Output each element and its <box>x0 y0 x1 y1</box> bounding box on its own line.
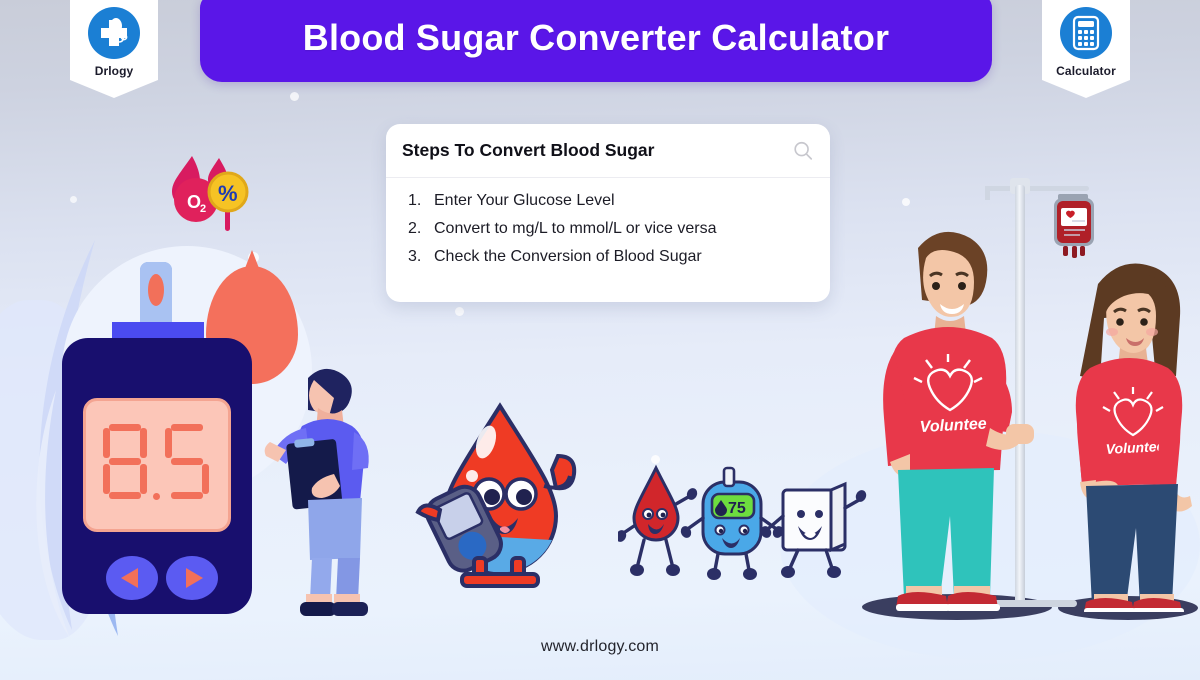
steps-card: Steps To Convert Blood Sugar 1. Enter Yo… <box>386 124 830 302</box>
glucometer-reading <box>83 398 231 532</box>
svg-text:%: % <box>218 181 238 206</box>
brand-badge-calculator[interactable]: Calculator <box>1042 0 1130 98</box>
test-strip-sample-dot <box>148 274 164 306</box>
poster-canvas: Blood Sugar Converter Calculator Drlogy <box>0 0 1200 680</box>
drlogy-logo-circle <box>88 7 140 59</box>
triangle-right-icon <box>166 556 218 600</box>
step-number: 2. <box>408 220 434 238</box>
list-item: 1. Enter Your Glucose Level <box>386 187 830 215</box>
handshake-highlight <box>1006 424 1034 444</box>
bokeh-5 <box>455 307 464 316</box>
step-text: Enter Your Glucose Level <box>434 192 615 210</box>
calculator-logo-circle <box>1060 7 1112 59</box>
list-item: 2. Convert to mg/L to mmol/L or vice ver… <box>386 215 830 243</box>
glucometer-button-left[interactable] <box>106 556 158 600</box>
oxygen-percent-illustration: O 2 % <box>162 152 258 240</box>
bokeh-6 <box>902 198 910 206</box>
page-title: Blood Sugar Converter Calculator <box>303 17 890 59</box>
svg-text:O: O <box>187 192 201 212</box>
mascot-trio: 75 <box>618 452 868 582</box>
drlogy-badge-label: Drlogy <box>70 64 158 78</box>
calculator-badge-label: Calculator <box>1042 64 1130 78</box>
doctor-cross-icon <box>94 13 134 53</box>
step-number: 1. <box>408 192 434 210</box>
brand-badge-drlogy[interactable]: Drlogy <box>70 0 158 98</box>
steps-card-header: Steps To Convert Blood Sugar <box>386 124 830 178</box>
list-item: 3. Check the Conversion of Blood Sugar <box>386 243 830 271</box>
footer-url[interactable]: www.drlogy.com <box>0 638 1200 656</box>
mascot-glucometer: 75 <box>679 468 785 580</box>
svg-text:75: 75 <box>728 500 746 517</box>
steps-list: 1. Enter Your Glucose Level 2. Convert t… <box>386 178 830 271</box>
steps-card-title: Steps To Convert Blood Sugar <box>402 140 792 161</box>
volunteer-male: Volunteer <box>878 212 1018 612</box>
bokeh-3 <box>70 196 77 203</box>
page-title-banner: Blood Sugar Converter Calculator <box>200 0 992 82</box>
calculator-icon <box>1069 14 1103 52</box>
technician-with-clipboard <box>262 358 392 620</box>
volunteer-female: Volunteer <box>1072 244 1198 612</box>
triangle-left-icon <box>106 556 158 600</box>
step-text: Check the Conversion of Blood Sugar <box>434 248 702 266</box>
step-text: Convert to mg/L to mmol/L or vice versa <box>434 220 716 238</box>
mascot-small-drop <box>618 468 699 576</box>
search-icon[interactable] <box>792 140 814 162</box>
mascot-blood-drop-with-meter <box>408 398 594 588</box>
glucometer-button-right[interactable] <box>166 556 218 600</box>
bokeh-1 <box>290 92 299 101</box>
iv-pole-arm-hook <box>985 186 990 200</box>
step-number: 3. <box>408 248 434 266</box>
svg-text:2: 2 <box>200 203 206 215</box>
